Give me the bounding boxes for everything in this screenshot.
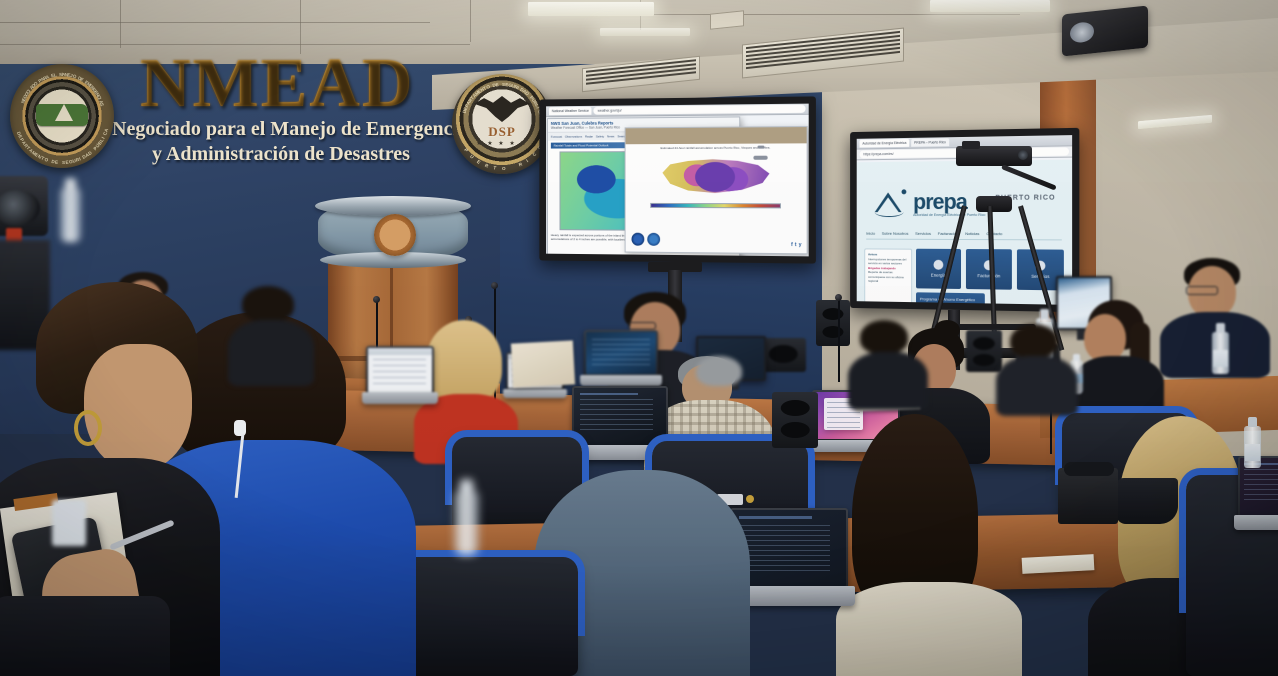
nav-item[interactable]: News [607, 134, 614, 138]
dsp-seal-ring-text: DEPARTAMENTO DE SEGURIDAD PÚBLICAPUERTO … [452, 74, 552, 174]
laptop-screen [574, 388, 666, 445]
phone-handset[interactable] [1064, 462, 1114, 476]
nmead-acronym: NMEAD [140, 44, 414, 124]
face-mask-icon [1116, 478, 1178, 524]
chair-back-foreground[interactable] [0, 596, 170, 676]
document-display-board [511, 340, 575, 387]
microphone-head-icon [835, 294, 842, 301]
noaa-logo-icon [632, 233, 645, 246]
nws-logo-icon [647, 233, 660, 246]
prepa-alert-panel: Avisos Interrupciones temporeras del ser… [864, 248, 912, 304]
person-back-row [232, 286, 310, 386]
desk-speaker [966, 330, 1002, 372]
address-bar[interactable]: weather.gov/sju/ [594, 105, 806, 115]
desk-phone-front[interactable] [1058, 468, 1118, 524]
rainfall-map-window[interactable]: Estimated 24-hour rainfall accumulation … [625, 126, 808, 254]
camera-pan-handle [1001, 164, 1057, 190]
nmead-wall-sign: NMEAD Negociado para el Manejo de Emerge… [0, 30, 540, 170]
ceiling-light-fixture [600, 28, 690, 36]
nav-item[interactable]: Sobre Nosotros [882, 231, 909, 236]
hand-sanitizer-bottle [1212, 332, 1229, 374]
alert-item: Reporte de averías: comuníquese con su o… [868, 270, 908, 284]
face [84, 344, 192, 472]
gooseneck-microphone [838, 298, 840, 382]
wall-speaker [816, 300, 850, 346]
social-icons[interactable]: f t y [791, 242, 801, 248]
nmead-subtitle-line1: Negociado para el Manejo de Emergencias [112, 118, 476, 141]
nav-item[interactable]: Radar [585, 135, 593, 139]
twitter-icon[interactable]: t [795, 242, 797, 248]
nmead-seal-ring-text: NEGOCIADO PARA EL MANEJO DE EMERGENCIASD… [10, 64, 114, 168]
hair-bun [934, 320, 960, 340]
woman-ponytail-right [1078, 300, 1160, 420]
map-color-scale [650, 203, 781, 208]
alert-item: Interrupciones temporeras del servicio e… [868, 257, 908, 266]
vieques-island [753, 156, 767, 160]
culebra-island [757, 146, 764, 149]
youtube-icon[interactable]: y [799, 242, 802, 248]
woman-curly-hair-cream [836, 414, 1022, 676]
nav-item[interactable]: Safety [596, 134, 604, 138]
person-back-row [852, 320, 924, 410]
eyeglasses-icon [628, 322, 656, 330]
podium-government-seal [374, 214, 416, 256]
shoulder-cream-top [836, 582, 1022, 676]
person-back-row [688, 356, 758, 432]
microphone-head-icon [491, 282, 498, 289]
browser-chrome: National Weather Service weather.gov/sju… [546, 104, 809, 118]
browser-tab[interactable]: National Weather Service [549, 107, 592, 115]
dsp-seal: DSP ★ ★ ★ ★ ★ DEPARTAMENTO DE SEGURIDAD … [452, 74, 552, 174]
nav-item[interactable]: Forecast [551, 135, 562, 139]
ceiling-light-fixture [930, 0, 1050, 12]
weather-screen-content: National Weather Service weather.gov/sju… [546, 104, 809, 257]
facebook-icon[interactable]: f [791, 242, 793, 248]
tripod-collar [976, 196, 1012, 212]
water-bottle [454, 491, 479, 556]
wall-display-weather[interactable]: National Weather Service weather.gov/sju… [539, 96, 816, 263]
microphone-head-icon [373, 296, 380, 303]
ceiling-light-fixture [528, 2, 654, 16]
nmead-seal: NEGOCIADO PARA EL MANEJO DE EMERGENCIASD… [10, 64, 114, 168]
nav-item[interactable]: Servicios [915, 231, 931, 236]
nav-item[interactable]: Observations [565, 135, 582, 139]
desk-speaker [772, 392, 818, 448]
browser-tab[interactable]: Autoridad de Energía Eléctrica [860, 139, 910, 148]
puerto-rico-rainfall-map [659, 156, 772, 199]
water-bottle [60, 188, 81, 242]
person-right-back [1000, 324, 1074, 416]
hoop-earring-icon [74, 410, 102, 446]
emergency-operations-center-photo: NMEAD Negociado para el Manejo de Emerge… [0, 0, 1278, 676]
press-badge [52, 500, 86, 546]
nmead-subtitle-line2: y Administración de Desastres [152, 143, 410, 166]
eyeglasses-icon [1186, 286, 1218, 295]
prepa-mark-icon [874, 189, 909, 217]
podium-top-rim [315, 196, 471, 216]
nav-item[interactable]: Inicio [866, 231, 875, 236]
map-caption: Estimated 24-hour rainfall accumulation … [626, 143, 807, 152]
window-toolbar [626, 127, 807, 144]
hand-sanitizer-bottle [1244, 426, 1261, 468]
broadcast-camera [956, 146, 1032, 166]
